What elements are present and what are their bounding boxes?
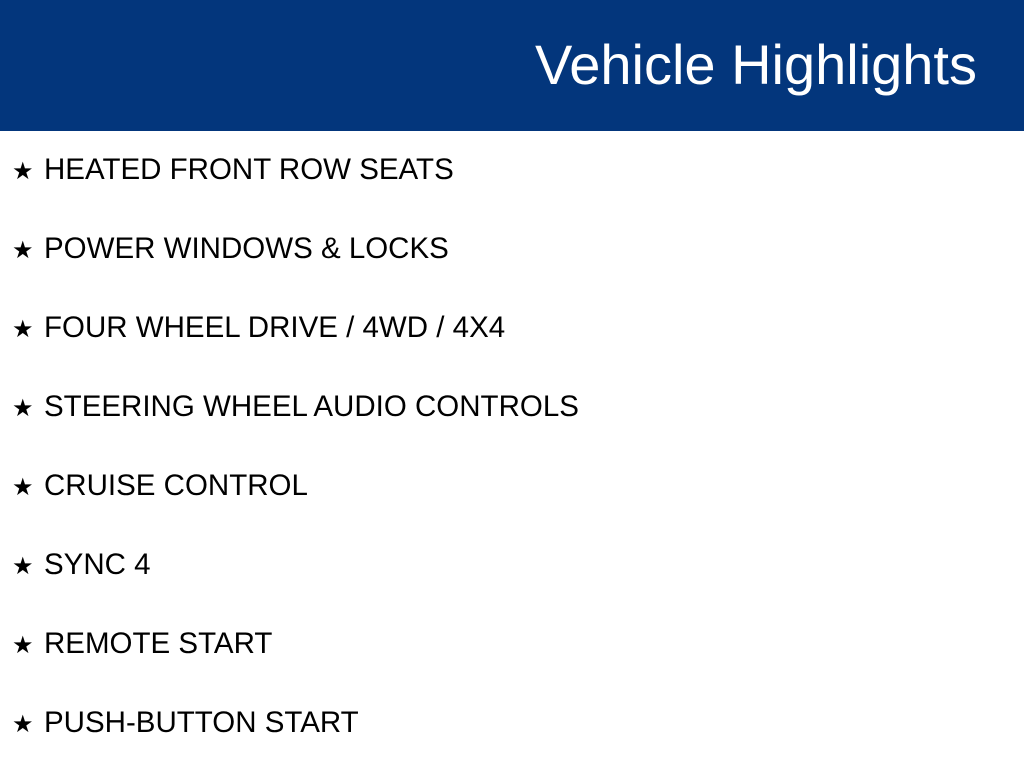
star-icon: ★ [12,712,44,736]
list-item: ★ POWER WINDOWS & LOCKS [0,210,1024,289]
star-icon: ★ [12,317,44,341]
header-banner: Vehicle Highlights [0,0,1024,131]
feature-label: CRUISE CONTROL [44,470,308,502]
list-item: ★ STEERING WHEEL AUDIO CONTROLS [0,368,1024,447]
feature-label: POWER WINDOWS & LOCKS [44,233,449,265]
list-item: ★ PUSH-BUTTON START [0,684,1024,763]
feature-label: STEERING WHEEL AUDIO CONTROLS [44,391,579,423]
feature-label: HEATED FRONT ROW SEATS [44,154,454,186]
list-item: ★ HEATED FRONT ROW SEATS [0,131,1024,210]
feature-label: REMOTE START [44,628,272,660]
list-item: ★ FOUR WHEEL DRIVE / 4WD / 4X4 [0,289,1024,368]
vehicle-features-list: ★ HEATED FRONT ROW SEATS ★ POWER WINDOWS… [0,131,1024,763]
vehicle-highlights-slide: Vehicle Highlights ★ HEATED FRONT ROW SE… [0,0,1024,768]
star-icon: ★ [12,396,44,420]
star-icon: ★ [12,554,44,578]
list-item: ★ SYNC 4 [0,526,1024,605]
feature-label: FOUR WHEEL DRIVE / 4WD / 4X4 [44,312,505,344]
star-icon: ★ [12,159,44,183]
list-item: ★ CRUISE CONTROL [0,447,1024,526]
list-item: ★ REMOTE START [0,605,1024,684]
star-icon: ★ [12,475,44,499]
star-icon: ★ [12,633,44,657]
page-title: Vehicle Highlights [535,36,977,95]
feature-label: SYNC 4 [44,549,151,581]
feature-label: PUSH-BUTTON START [44,707,359,739]
star-icon: ★ [12,238,44,262]
